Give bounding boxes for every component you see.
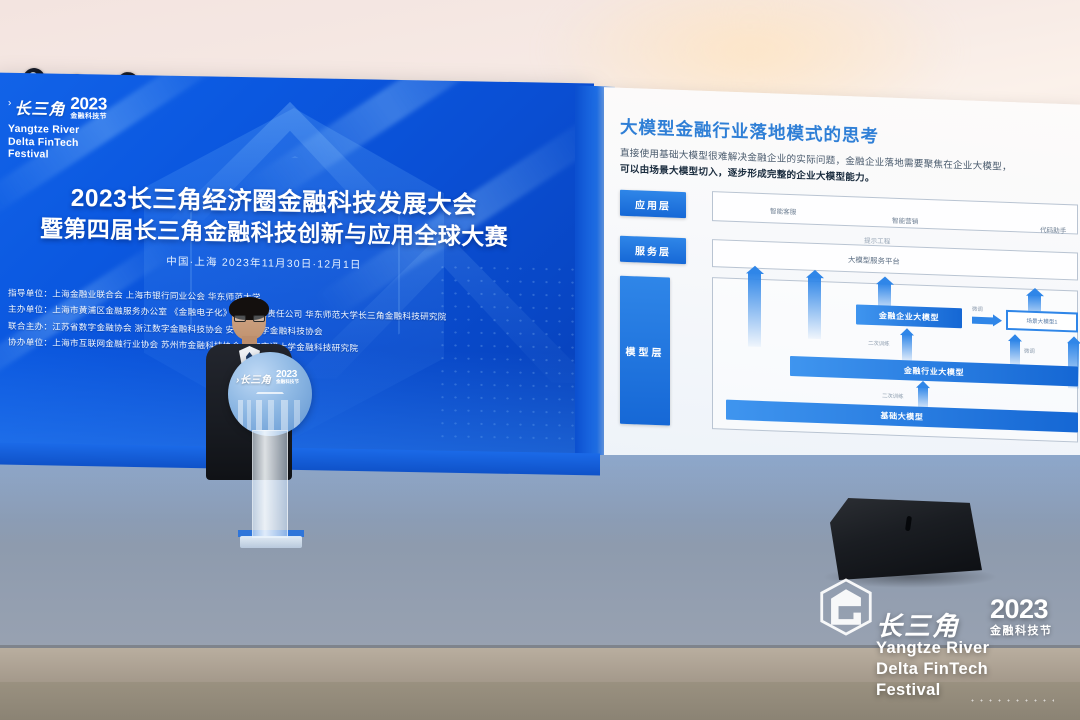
app-cell-smart-marketing: 智能营销 [892, 215, 918, 226]
watermark-en-line1: Yangtze River [876, 638, 989, 659]
monitor-handle-slot [905, 516, 912, 532]
logo-en-line3: Festival [8, 148, 148, 163]
app-cell-code-assistant: 代码助手 [1040, 224, 1066, 235]
service-platform-label: 大模型服务平台 [848, 254, 900, 267]
layer-tag-application: 应用层 [620, 190, 686, 218]
podium-bridge-graphic [242, 392, 298, 410]
podium-logo-subtitle: 金融科技节 [276, 379, 299, 385]
scene-model-1-label: 场景大模型1 [1010, 313, 1074, 329]
arrow-label-tuning: 微调 [972, 305, 983, 313]
arrow-label-tuning: 微调 [1024, 347, 1035, 355]
sponsor-list: 指导单位：上海金融业联合会 上海市银行同业公会 华东师范大学 主办单位：上海市黄… [8, 285, 578, 361]
right-arrow [972, 317, 994, 325]
watermark-dot-pattern [968, 696, 1054, 706]
podium-base [240, 536, 302, 548]
up-arrow-small [1010, 340, 1020, 366]
logo-arrow-icon: › [8, 95, 11, 113]
up-arrow [748, 272, 761, 346]
arrow-label-retrain: 二次训练 [882, 391, 904, 400]
logo-chinese-name: 长三角 [14, 95, 65, 120]
application-layer-box [712, 191, 1078, 234]
watermark-en-line2: Delta FinTech [876, 659, 989, 680]
logo-subtitle: 金融科技节 [70, 111, 107, 122]
app-cell-smart-service: 智能客服 [770, 205, 796, 216]
architecture-diagram: 应用层 智能客服 智能营销 代码助手 提示工程 服务层 大模型服务平台 模型层 [620, 184, 1078, 451]
stage-monitor-speaker [830, 498, 982, 580]
logo-year: 2023 [70, 96, 107, 112]
projection-screen: 大模型金融行业落地模式的思考 直接使用基础大模型很难解决金融企业的实际问题，金融… [604, 87, 1080, 477]
watermark-logo: 长三角 2023 金融科技节 Yangtze River Delta FinTe… [818, 578, 1068, 698]
arrow-label-retrain: 二次训练 [868, 339, 890, 348]
podium: ›长三角 2023 金融科技节 [228, 352, 312, 562]
speaker-glasses [234, 315, 265, 322]
watermark-subtitle: 金融科技节 [990, 622, 1053, 638]
podium-logo-panel: ›长三角 2023 金融科技节 [228, 352, 312, 436]
model-box-enterprise: 金融企业大模型 [856, 304, 962, 328]
event-title: 2023长三角经济圈金融科技发展大会 暨第四届长三角金融科技创新与应用全球大赛 [0, 183, 554, 253]
hexagon-mark-icon [818, 578, 874, 636]
podium-stem [252, 430, 288, 538]
layer-tag-model: 模型层 [620, 276, 670, 426]
up-arrow-small [918, 387, 928, 409]
podium-logo-chinese: 长三角 [240, 375, 272, 386]
up-arrow [808, 277, 821, 339]
festival-logo: › 长三角 2023 金融科技节 Yangtze River Delta Fin… [8, 95, 148, 163]
conference-stage-photo: › 长三角 2023 金融科技节 Yangtze River Delta Fin… [0, 0, 1080, 720]
layer-tag-service: 服务层 [620, 236, 686, 264]
up-arrow-small [902, 334, 912, 360]
watermark-year: 2023 [990, 594, 1048, 625]
